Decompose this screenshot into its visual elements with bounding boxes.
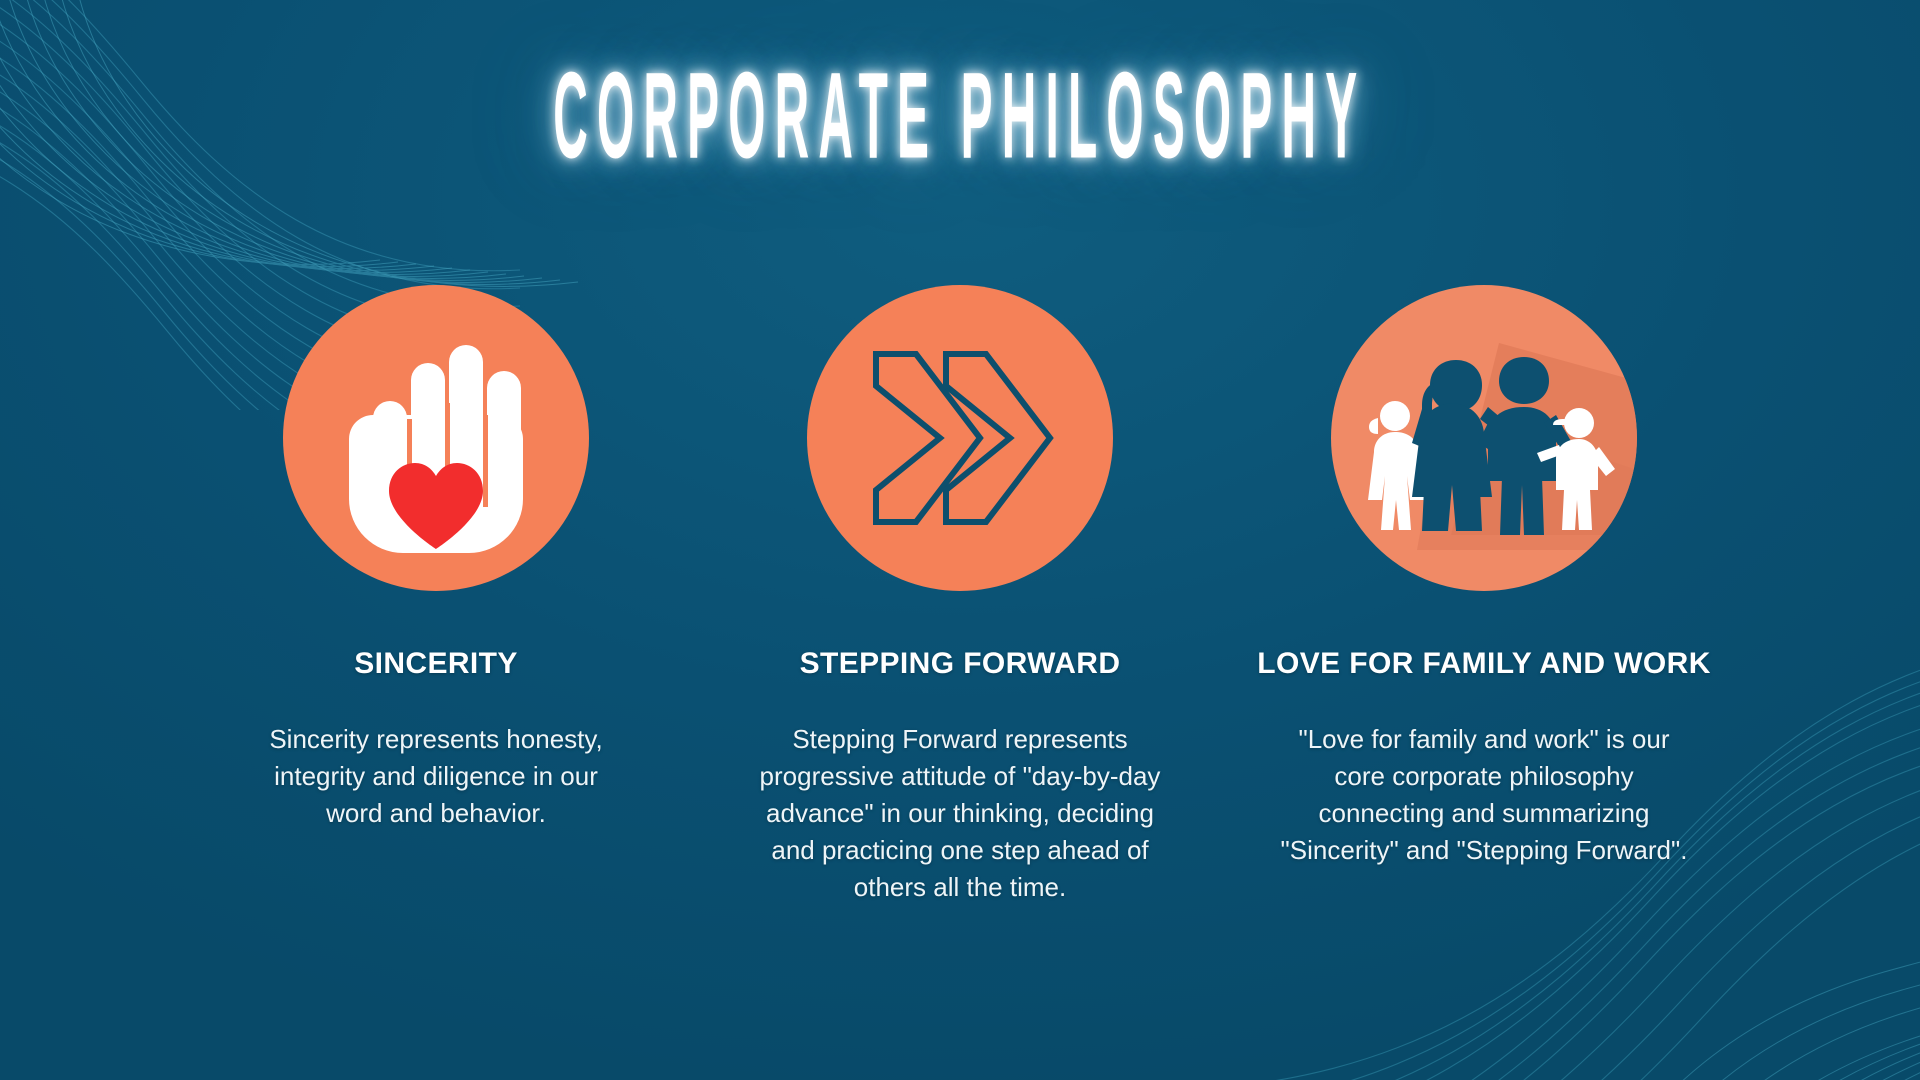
family-group-icon [1331, 285, 1637, 591]
column-body-text: Stepping Forward represents progressive … [750, 721, 1170, 906]
slide-canvas: CORPORATE PHILOSOPHY [0, 0, 1920, 1080]
column-heading: SINCERITY [354, 647, 518, 681]
philosophy-column-stepping-forward: STEPPING FORWARD Stepping Forward repres… [760, 285, 1160, 906]
hand-with-heart-icon [283, 285, 589, 591]
family-group-glyph [1331, 285, 1637, 591]
philosophy-column-sincerity: SINCERITY Sincerity represents honesty, … [236, 285, 636, 832]
double-chevron-glyph [860, 338, 1060, 538]
page-title: CORPORATE PHILOSOPHY [553, 55, 1366, 178]
double-chevron-right-icon [807, 285, 1113, 591]
column-heading: LOVE FOR FAMILY AND WORK [1257, 647, 1711, 681]
column-body-text: "Love for family and work" is our core c… [1279, 721, 1689, 869]
column-body-text: Sincerity represents honesty, integrity … [246, 721, 626, 832]
slide-title-container: CORPORATE PHILOSOPHY [0, 55, 1920, 159]
philosophy-column-love-for-family-and-work: LOVE FOR FAMILY AND WORK "Love for famil… [1284, 285, 1684, 869]
hand-with-heart-glyph [331, 323, 541, 553]
column-heading: STEPPING FORWARD [800, 647, 1121, 681]
philosophy-columns: SINCERITY Sincerity represents honesty, … [0, 285, 1920, 906]
